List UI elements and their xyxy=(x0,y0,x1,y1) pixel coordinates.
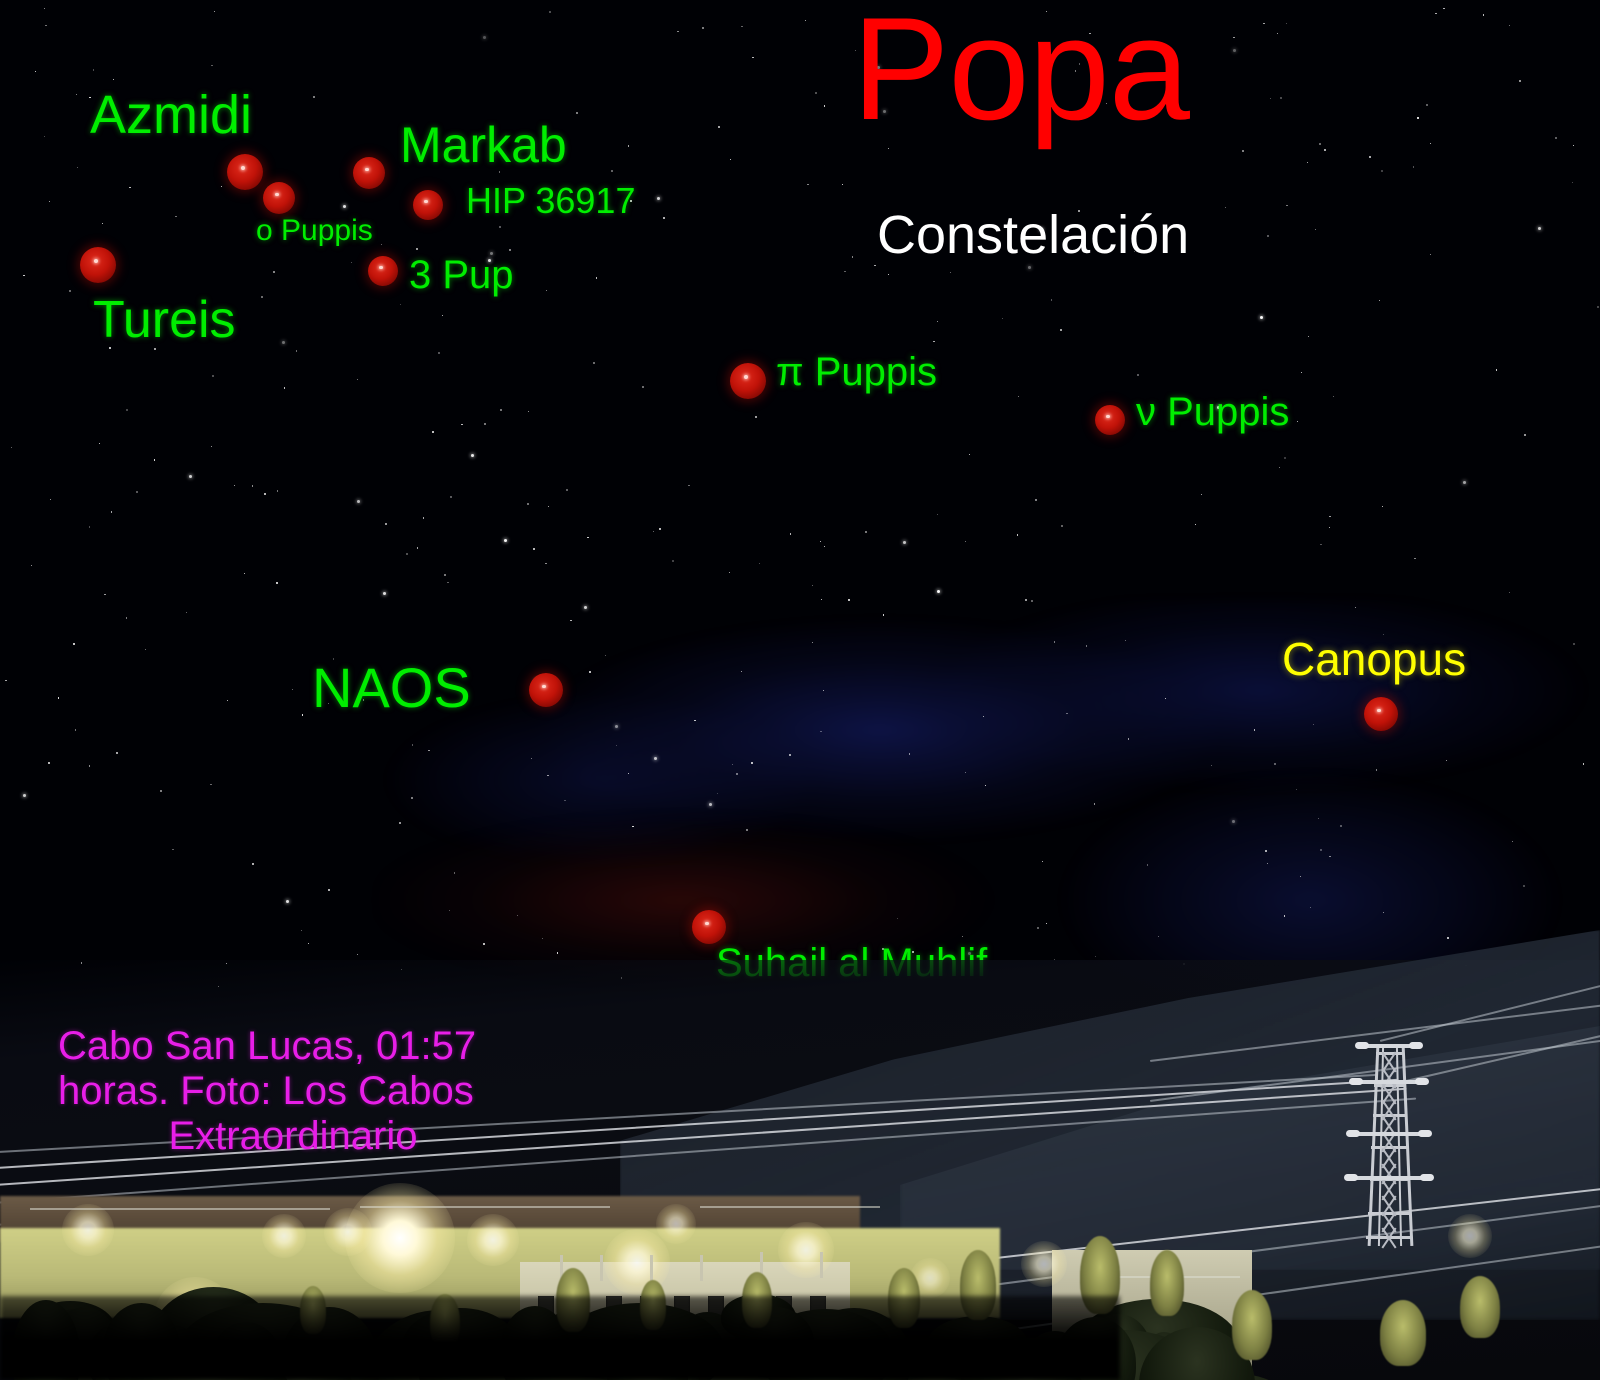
palm-tree xyxy=(1232,1290,1272,1360)
insulator xyxy=(1344,1174,1358,1181)
pylon-member xyxy=(1348,1176,1430,1180)
star-label-markab: Markab xyxy=(400,120,567,170)
background-star xyxy=(812,585,813,586)
background-star xyxy=(1447,937,1449,939)
insulator xyxy=(1415,1078,1429,1085)
background-star xyxy=(937,590,940,593)
background-star xyxy=(1017,534,1018,535)
lamp-post xyxy=(600,1255,603,1281)
light-source xyxy=(62,1204,114,1256)
pylon-member xyxy=(1368,1212,1410,1215)
background-star xyxy=(1035,499,1036,500)
background-star xyxy=(1086,645,1087,646)
star-label-pi-puppis: π Puppis xyxy=(776,352,937,392)
background-star xyxy=(659,528,660,529)
star-marker xyxy=(353,157,385,189)
background-star xyxy=(111,511,112,512)
background-star xyxy=(848,599,849,600)
background-star xyxy=(1430,143,1431,144)
background-star xyxy=(752,57,753,58)
background-star xyxy=(351,262,352,263)
background-star xyxy=(252,863,253,864)
background-star xyxy=(983,716,984,717)
star-marker xyxy=(263,182,295,214)
insulator xyxy=(1349,1078,1363,1085)
background-star xyxy=(759,563,760,564)
photo-caption: Cabo San Lucas, 01:57 horas. Foto: Los C… xyxy=(58,1024,528,1158)
background-star xyxy=(888,274,889,275)
background-star xyxy=(1376,769,1377,770)
background-star xyxy=(909,753,910,754)
lamp-post xyxy=(650,1255,653,1281)
light-source xyxy=(778,1222,834,1278)
background-star xyxy=(450,496,451,497)
background-star xyxy=(428,750,429,751)
background-star xyxy=(1463,481,1466,484)
background-star xyxy=(755,416,756,417)
background-star xyxy=(471,454,474,457)
background-star xyxy=(1297,421,1298,422)
background-star xyxy=(615,725,618,728)
background-star xyxy=(874,265,875,266)
background-star xyxy=(1426,104,1428,106)
background-star xyxy=(483,36,486,39)
background-star xyxy=(44,136,45,137)
background-star xyxy=(126,617,127,618)
background-star xyxy=(1263,23,1264,24)
background-star xyxy=(411,797,413,799)
railing xyxy=(30,1208,330,1210)
background-star xyxy=(499,226,501,228)
background-star xyxy=(527,503,529,505)
insulator xyxy=(1355,1042,1369,1049)
background-star xyxy=(186,612,187,613)
insulator xyxy=(1346,1130,1360,1137)
insulator xyxy=(1409,1042,1423,1049)
star-label-3-pup: 3 Pup xyxy=(409,255,514,295)
background-star xyxy=(129,187,130,188)
background-star xyxy=(116,752,117,753)
background-star xyxy=(484,423,486,425)
background-star xyxy=(1381,170,1383,172)
caption-line-1: Cabo San Lucas, 01:57 xyxy=(58,1024,528,1069)
background-star xyxy=(820,541,821,542)
star-label-canopus: Canopus xyxy=(1282,636,1466,682)
background-star xyxy=(702,27,704,29)
background-star xyxy=(284,387,285,388)
background-star xyxy=(528,411,529,412)
background-star xyxy=(815,92,817,94)
background-star xyxy=(73,643,74,644)
background-star xyxy=(509,249,510,250)
background-star xyxy=(1137,374,1139,376)
background-star xyxy=(500,409,502,411)
star-label-azmidi: Azmidi xyxy=(90,88,252,142)
background-star xyxy=(104,594,105,595)
background-star xyxy=(1233,37,1234,38)
star-marker xyxy=(1364,697,1398,731)
background-star xyxy=(694,720,695,721)
light-source xyxy=(1448,1214,1492,1258)
background-star xyxy=(1260,316,1263,319)
background-star xyxy=(1583,763,1584,764)
background-star xyxy=(406,553,408,555)
background-star xyxy=(718,126,720,128)
insulator xyxy=(1418,1130,1432,1137)
star-marker xyxy=(227,154,263,190)
background-star xyxy=(576,112,578,114)
star-label-o-puppis: o Puppis xyxy=(256,216,373,246)
transmission-tower xyxy=(1330,1036,1450,1246)
railing xyxy=(360,1206,610,1208)
background-star xyxy=(557,952,558,953)
railing xyxy=(700,1206,880,1208)
background-star xyxy=(1301,372,1302,373)
background-star xyxy=(1324,149,1326,151)
background-star xyxy=(175,216,176,217)
pylon-member xyxy=(1374,1084,1403,1087)
caption-line-2: horas. Foto: Los Cabos xyxy=(58,1069,528,1114)
star-marker xyxy=(692,910,726,944)
background-star xyxy=(807,184,808,185)
background-star xyxy=(211,65,212,66)
background-star xyxy=(1597,306,1599,308)
lamp-post xyxy=(700,1255,703,1281)
lamp-post xyxy=(820,1252,823,1278)
background-star xyxy=(35,71,36,72)
background-star xyxy=(545,563,546,564)
insulator xyxy=(1420,1174,1434,1181)
background-star xyxy=(903,541,906,544)
light-source xyxy=(324,1208,372,1256)
background-star xyxy=(1267,235,1269,237)
background-star xyxy=(23,275,24,276)
background-star xyxy=(1284,915,1285,916)
background-star xyxy=(1523,885,1525,887)
palm-tree xyxy=(1460,1276,1500,1338)
background-star xyxy=(432,431,434,433)
light-source xyxy=(467,1214,519,1266)
background-star xyxy=(286,900,289,903)
background-star xyxy=(517,915,518,916)
star-marker xyxy=(80,247,116,283)
pylon-member xyxy=(1371,1146,1407,1149)
background-star xyxy=(1315,229,1316,230)
background-star xyxy=(1512,841,1513,842)
background-star xyxy=(189,475,192,478)
star-marker xyxy=(730,363,766,399)
background-star xyxy=(1435,13,1436,14)
background-star xyxy=(1025,599,1027,601)
background-star xyxy=(933,341,934,342)
background-star xyxy=(642,386,644,388)
background-star xyxy=(883,614,884,615)
background-star xyxy=(570,620,571,621)
background-star xyxy=(1524,434,1526,436)
background-star xyxy=(587,537,588,538)
background-star xyxy=(454,872,455,873)
star-marker xyxy=(1095,405,1125,435)
pylon-member xyxy=(1373,1114,1405,1117)
pylon-member xyxy=(1376,1052,1402,1055)
constellation-subtitle: Constelación xyxy=(877,208,1189,262)
background-star xyxy=(549,11,551,13)
background-star xyxy=(593,362,595,364)
background-star xyxy=(1319,143,1321,145)
background-star xyxy=(1125,640,1126,641)
background-star xyxy=(1320,544,1321,545)
background-star xyxy=(400,304,401,305)
background-star xyxy=(211,446,212,447)
background-star xyxy=(1037,927,1039,929)
palm-tree xyxy=(1380,1300,1426,1366)
background-star xyxy=(172,849,173,850)
background-star xyxy=(504,539,507,542)
light-source xyxy=(656,1204,696,1244)
light-source xyxy=(262,1214,306,1258)
background-star xyxy=(1054,641,1055,642)
background-star xyxy=(632,826,633,827)
foreground-shadow xyxy=(0,1296,1120,1380)
background-star xyxy=(1329,527,1330,528)
pylon-member xyxy=(1350,1132,1428,1136)
star-label-nu-puppis: ν Puppis xyxy=(1136,392,1289,432)
star-label-tureis: Tureis xyxy=(93,294,236,346)
background-star xyxy=(672,560,674,562)
background-star xyxy=(1417,117,1418,118)
star-marker xyxy=(529,673,563,707)
background-star xyxy=(1094,803,1095,804)
background-star xyxy=(385,523,387,525)
background-star xyxy=(736,773,737,774)
background-star xyxy=(1329,856,1330,857)
background-star xyxy=(1233,49,1236,52)
background-star xyxy=(461,424,462,425)
background-star xyxy=(277,490,278,491)
background-star xyxy=(746,829,748,831)
background-star xyxy=(1147,864,1148,865)
star-label-naos: NAOS xyxy=(312,660,471,716)
background-star xyxy=(1195,524,1196,525)
light-source xyxy=(1021,1241,1067,1287)
constellation-title: Popa xyxy=(852,0,1189,142)
star-marker xyxy=(413,190,443,220)
background-star xyxy=(58,697,59,698)
background-star xyxy=(49,201,50,202)
background-star xyxy=(328,889,330,891)
background-star xyxy=(1165,698,1166,699)
star-label-hip36917: HIP 36917 xyxy=(466,183,635,219)
background-star xyxy=(1286,205,1287,206)
background-star xyxy=(77,167,78,168)
night-sky-photo: Popa Constelación Azmidi Markab HIP 3691… xyxy=(0,0,1600,1380)
palm-tree xyxy=(1150,1250,1184,1316)
background-star xyxy=(1279,467,1280,468)
background-star xyxy=(1496,369,1497,370)
star-marker xyxy=(368,256,398,286)
caption-line-3: Extraordinario xyxy=(58,1114,528,1159)
background-star xyxy=(276,582,277,583)
background-star xyxy=(416,248,417,249)
